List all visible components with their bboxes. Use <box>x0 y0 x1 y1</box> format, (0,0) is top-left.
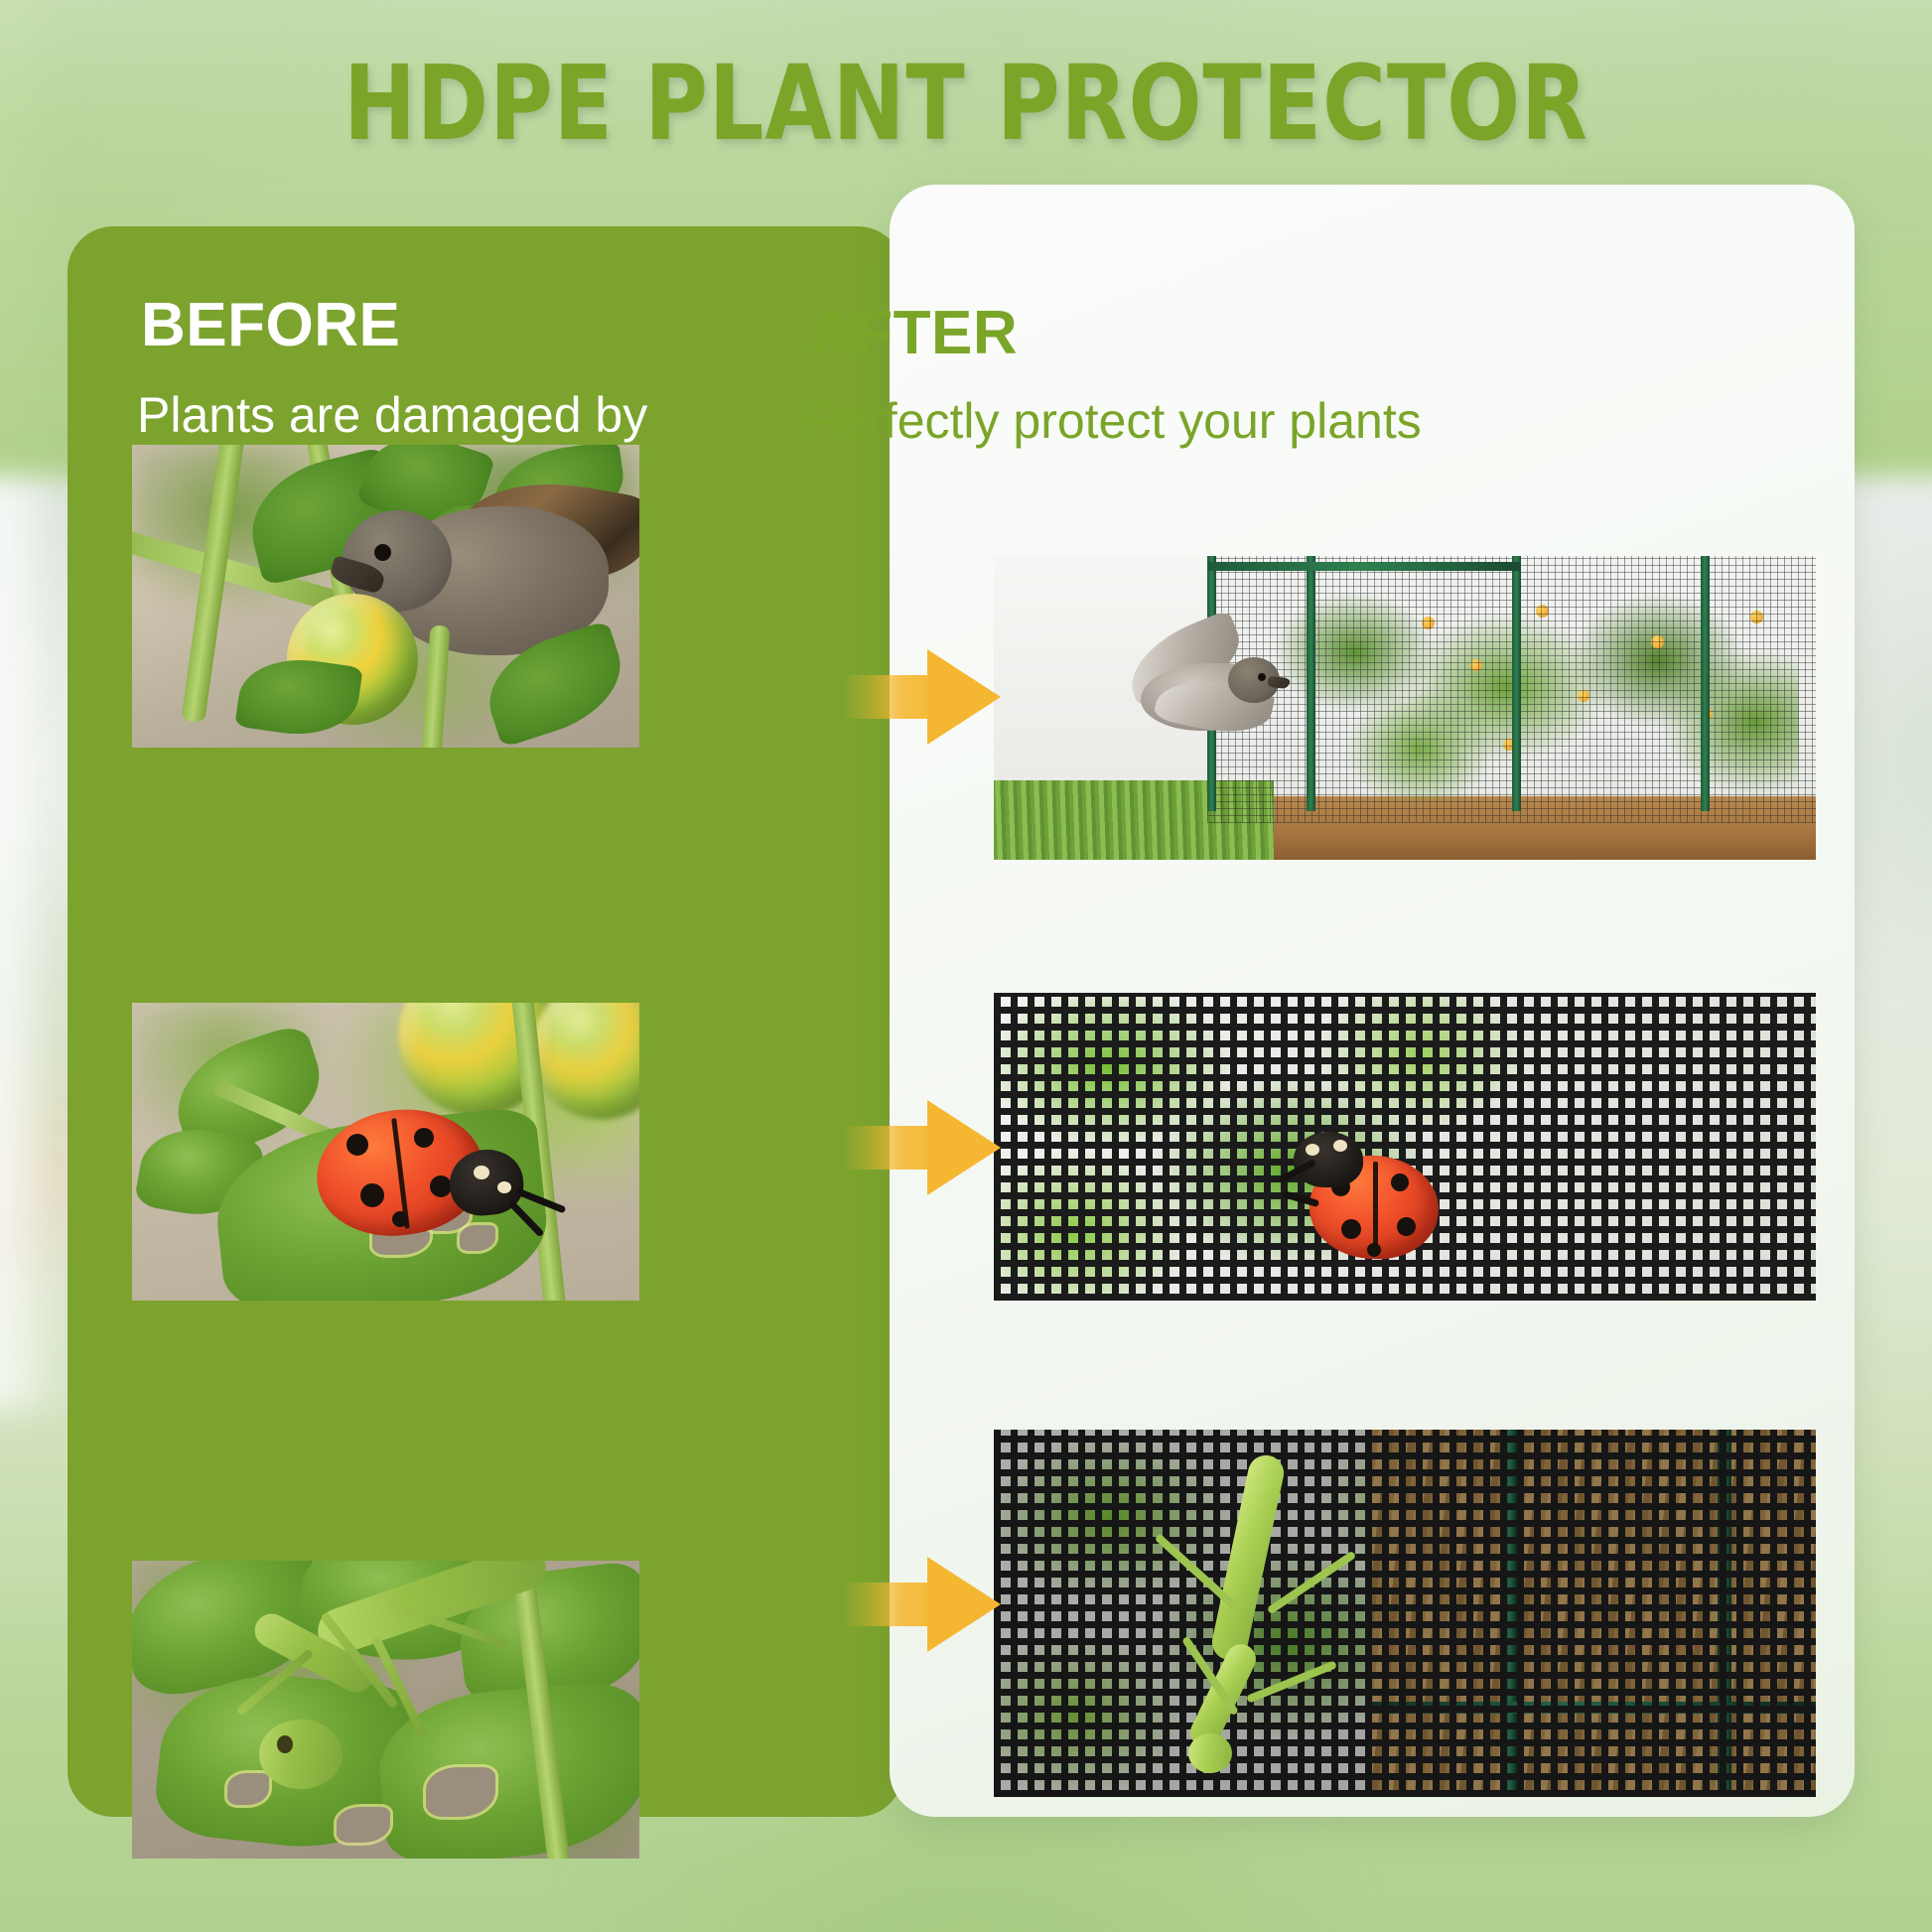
comparison-board: BEFORE Plants are damaged by birds and i… <box>0 0 1932 1932</box>
after-subtitle: Perfectly protect your plants <box>806 393 1501 450</box>
arrow-before-to-after-3-icon <box>842 1557 1001 1652</box>
before-photo-sparrow-pecking-tomato <box>132 445 639 748</box>
before-heading: BEFORE <box>141 290 400 360</box>
after-photo-bird-blocked-by-net-cage-over-garden <box>994 556 1816 860</box>
before-photo-praying-mantis-on-damaged-leaves <box>132 1561 639 1859</box>
before-photo-ladybug-on-chewed-leaf <box>132 1003 639 1301</box>
arrow-before-to-after-1-icon <box>842 649 1001 745</box>
after-heading: AFTER <box>810 298 1018 368</box>
after-photo-ladybug-on-hdpe-mesh-over-foliage <box>994 993 1816 1301</box>
after-photo-mantis-on-hdpe-mesh-garden-frame <box>994 1430 1816 1797</box>
arrow-before-to-after-2-icon <box>842 1100 1001 1195</box>
